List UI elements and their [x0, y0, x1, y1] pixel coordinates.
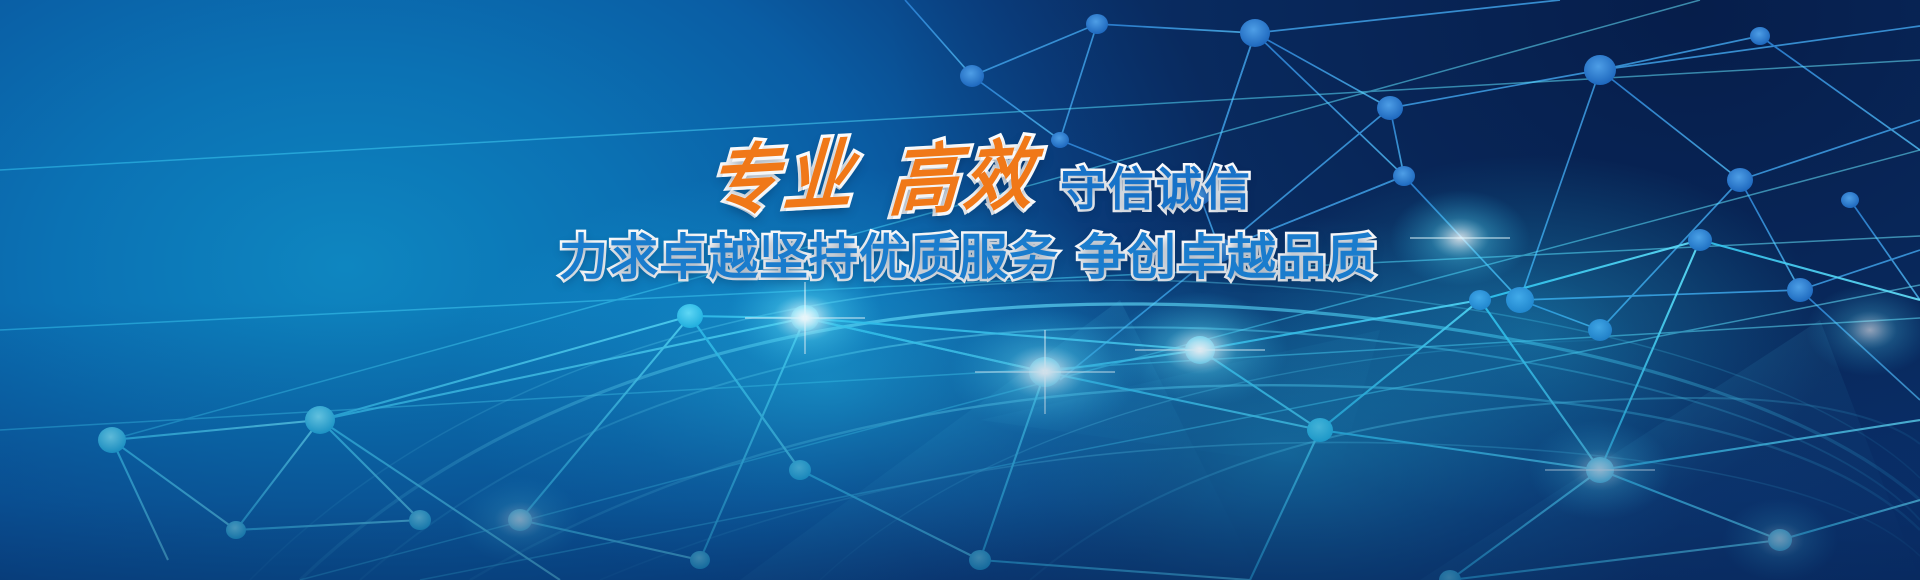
background-bottom-shade: [0, 0, 1920, 580]
hero-banner: 专业 高效 守信诚信 力求卓越坚持优质服务 争创卓越品质: [0, 0, 1920, 580]
